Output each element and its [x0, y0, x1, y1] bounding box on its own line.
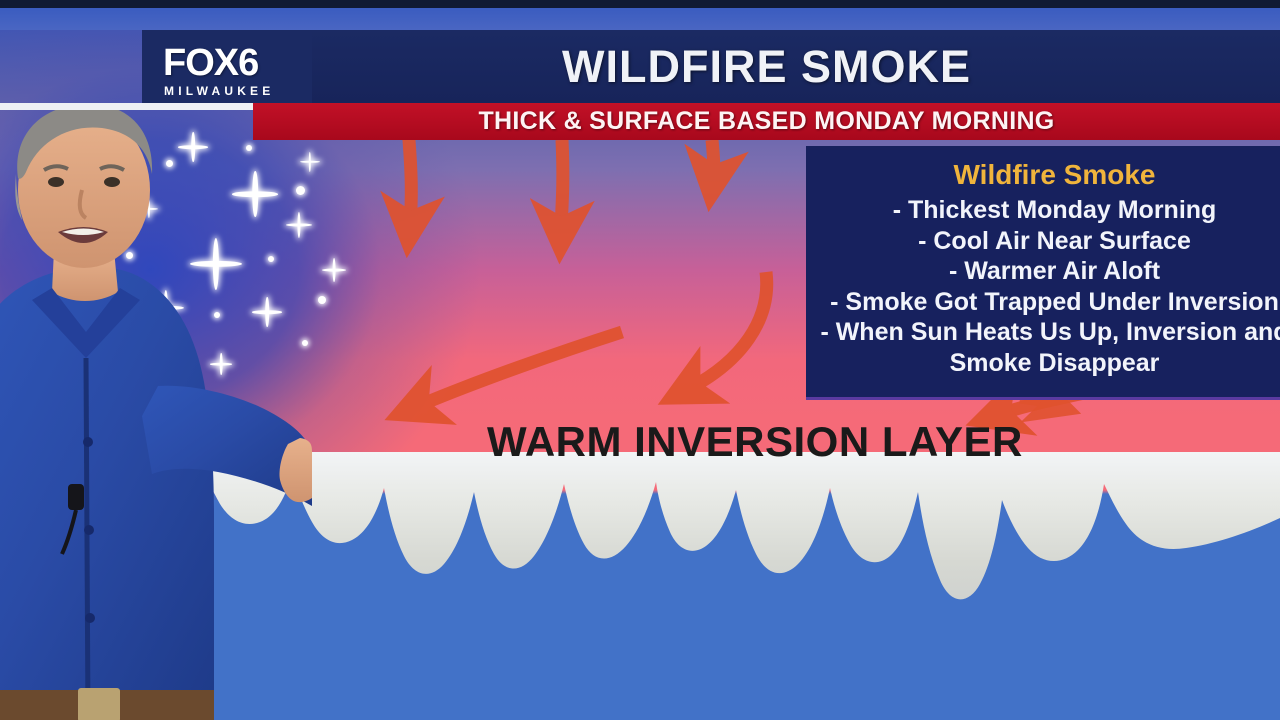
- wildfire-smoke-info-panel: Wildfire Smoke - Thickest Monday Morning…: [806, 146, 1280, 400]
- headline-banner: WILDFIRE SMOKE: [253, 30, 1280, 103]
- subheadline-banner: THICK & SURFACE BASED MONDAY MORNING: [253, 103, 1280, 140]
- banner-white-divider: [0, 103, 253, 110]
- info-panel-heading: Wildfire Smoke: [806, 159, 1280, 191]
- subtitle-text: THICK & SURFACE BASED MONDAY MORNING: [478, 107, 1054, 136]
- info-bullet-2: - Cool Air Near Surface: [806, 226, 1280, 257]
- broadcast-screenshot: WILDFIRE SMOKE THICK & SURFACE BASED MON…: [0, 0, 1280, 720]
- info-bullet-4: - Smoke Got Trapped Under Inversion: [806, 287, 1280, 318]
- info-bullet-3: - Warmer Air Aloft: [806, 256, 1280, 287]
- page-title: WILDFIRE SMOKE: [562, 41, 971, 93]
- info-bullet-1: - Thickest Monday Morning: [806, 195, 1280, 226]
- meteorologist: [0, 86, 312, 720]
- network-city-text: MILWAUKEE: [164, 84, 274, 98]
- info-bullet-5: - When Sun Heats Us Up, Inversion and: [806, 317, 1280, 348]
- warm-inversion-layer-label: WARM INVERSION LAYER: [487, 418, 1023, 466]
- info-bullet-6: Smoke Disappear: [806, 348, 1280, 379]
- network-logo-text: FOX6: [163, 42, 258, 85]
